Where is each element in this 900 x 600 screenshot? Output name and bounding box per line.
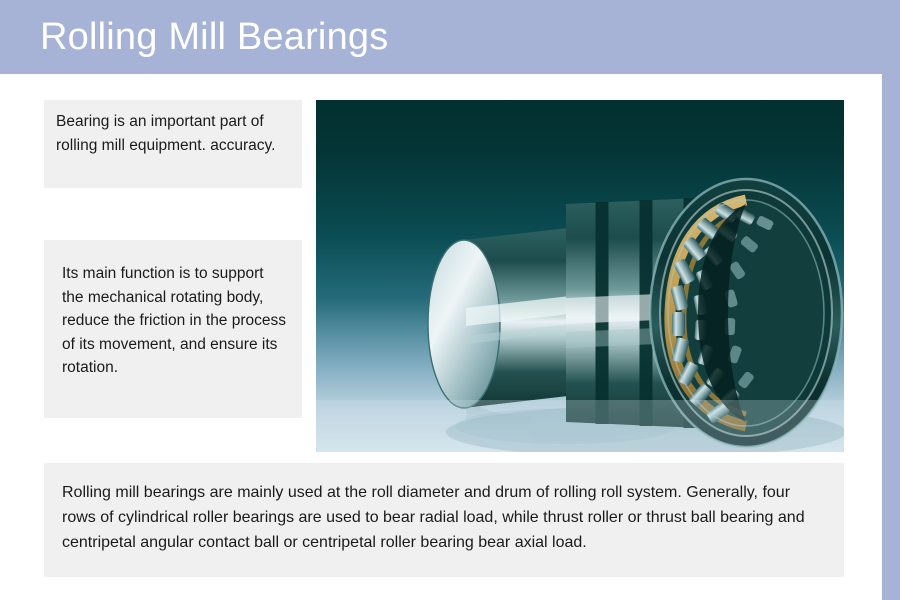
right-frame-band bbox=[882, 0, 900, 600]
slide: Rolling Mill Bearings Bearing is an impo… bbox=[0, 0, 900, 600]
bearing-illustration bbox=[316, 100, 844, 452]
usage-text-card: Rolling mill bearings are mainly used at… bbox=[44, 463, 844, 577]
intro-text: Bearing is an important part of rolling … bbox=[56, 110, 290, 157]
spacer-ring bbox=[428, 228, 584, 408]
roller-assembly bbox=[668, 200, 824, 426]
function-text-card: Its main function is to support the mech… bbox=[44, 240, 302, 418]
bearing-photo bbox=[316, 100, 844, 452]
page-title: Rolling Mill Bearings bbox=[40, 12, 388, 62]
intro-text-card: Bearing is an important part of rolling … bbox=[44, 100, 302, 188]
function-text: Its main function is to support the mech… bbox=[62, 262, 288, 380]
usage-text: Rolling mill bearings are mainly used at… bbox=[62, 481, 824, 555]
